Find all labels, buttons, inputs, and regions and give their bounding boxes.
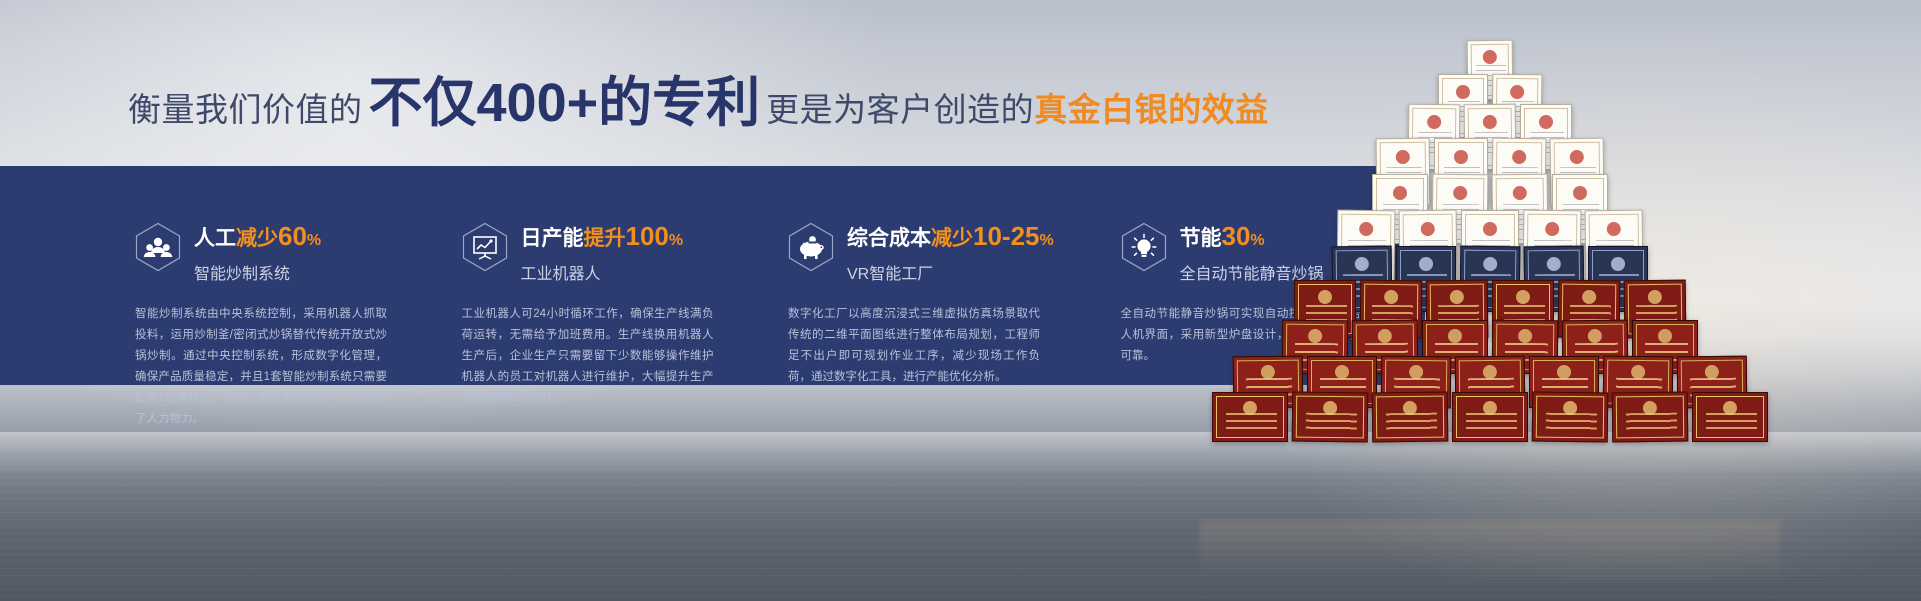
- feature-text: 综合成本减少10-25% VR智能工厂: [847, 220, 1054, 284]
- certificate-item: [1532, 392, 1609, 443]
- certificate-seal: [1450, 290, 1464, 304]
- feature-item-capacity-increase: 日产能提升100% 工业机器人 工业机器人可24小时循环工作，确保生产线满负荷运…: [452, 166, 767, 385]
- headline-prefix: 衡量我们价值的: [128, 83, 363, 131]
- certificate-seal: [1448, 329, 1462, 343]
- certificate-text-lines: [1546, 413, 1597, 433]
- feature-header: 综合成本减少10-25% VR智能工厂: [778, 220, 1093, 284]
- certificate-seal: [1510, 85, 1524, 99]
- feature-title-number: 30: [1222, 221, 1251, 251]
- feature-title-unit: %: [1040, 232, 1054, 249]
- feature-title-value: 提升: [584, 227, 626, 250]
- certificate-text-lines: [1226, 413, 1276, 432]
- certificate-text-lines: [1626, 413, 1677, 433]
- certificate-seal: [1396, 149, 1410, 163]
- certificate-seal: [1419, 257, 1433, 271]
- feature-title: 综合成本减少10-25%: [847, 222, 1054, 252]
- certificate-seal: [1512, 149, 1526, 163]
- certificate-seal: [1453, 186, 1467, 200]
- certificate-seal: [1513, 186, 1527, 200]
- feature-title-prefix: 节能: [1180, 227, 1222, 250]
- certificate-seal: [1427, 115, 1441, 129]
- headline-highlight: 真金白银的效益: [1034, 83, 1269, 131]
- certificate-seal: [1607, 222, 1621, 236]
- feature-title-number: 100: [626, 221, 669, 251]
- certificate-text-lines: [1706, 413, 1756, 432]
- feature-title-number: 10-25: [973, 221, 1040, 251]
- feature-subtitle: 工业机器人: [521, 260, 684, 284]
- certificate-seal: [1483, 222, 1497, 236]
- feature-title: 日产能提升100%: [521, 222, 684, 252]
- certificate-seal: [1611, 257, 1625, 271]
- feature-title-prefix: 人工: [194, 227, 236, 250]
- feature-description: 数字化工厂以高度沉浸式三维虚拟仿真场景取代传统的二维平面图纸进行整体布局规划，工…: [788, 304, 1040, 388]
- certificate-seal: [1648, 290, 1662, 304]
- certificate-seal: [1483, 50, 1497, 64]
- feature-title-value: 减少: [931, 227, 973, 250]
- piggy-bank-icon: [788, 222, 834, 272]
- feature-list: 人工减少60% 智能炒制系统 智能炒制系统由中央系统控制，采用机器人抓取投料，运…: [0, 166, 1425, 385]
- certificate-seal: [1483, 115, 1497, 129]
- feature-subtitle: 智能炒制系统: [194, 260, 321, 284]
- feature-item-labor-reduction: 人工减少60% 智能炒制系统 智能炒制系统由中央系统控制，采用机器人抓取投料，运…: [125, 166, 440, 385]
- certificate-seal: [1384, 290, 1398, 304]
- certificate-seal: [1378, 329, 1392, 343]
- feature-title-value: 减少: [236, 227, 278, 250]
- headline-emphasis: 不仅400+的专利: [363, 76, 767, 130]
- certificate-item: [1612, 392, 1689, 443]
- feature-header: 人工减少60% 智能炒制系统: [125, 220, 440, 284]
- certificate-seal: [1456, 85, 1470, 99]
- feature-title-number: 60: [278, 221, 307, 251]
- certificate-text-lines: [1466, 413, 1516, 432]
- certificate-item: [1292, 392, 1369, 443]
- certificate-seal: [1547, 257, 1561, 271]
- feature-title: 节能30%: [1180, 222, 1324, 252]
- feature-title-unit: %: [669, 232, 683, 249]
- certificate-item: [1452, 392, 1528, 442]
- certificate-item: [1692, 392, 1768, 442]
- lightbulb-icon: [1121, 222, 1167, 272]
- feature-title-prefix: 日产能: [521, 227, 584, 250]
- feature-title-unit: %: [307, 232, 321, 249]
- certificate-seal: [1318, 290, 1332, 304]
- feature-title-unit: %: [1250, 232, 1264, 249]
- certificate-seal: [1588, 329, 1602, 343]
- certificate-seal: [1359, 222, 1373, 236]
- feature-description: 工业机器人可24小时循环工作，确保生产线满负荷运转，无需给予加班费用。生产线换用…: [462, 304, 714, 409]
- certificate-seal: [1557, 365, 1571, 379]
- certificate-seal: [1573, 186, 1587, 200]
- certificate-seal: [1483, 257, 1497, 271]
- certificate-seal: [1421, 222, 1435, 236]
- certificate-seal: [1393, 186, 1407, 200]
- feature-text: 日产能提升100% 工业机器人: [521, 220, 684, 284]
- promo-banner: 衡量我们价值的 不仅400+的专利 更是为客户创造的 真金白银的效益: [0, 0, 1921, 601]
- feature-description: 智能炒制系统由中央系统控制，采用机器人抓取投料，运用炒制釜/密闭式炒锅替代传统开…: [135, 304, 387, 430]
- certificate-item: [1372, 392, 1449, 443]
- certificate-seal: [1308, 329, 1322, 343]
- certificate-reflection: [1200, 520, 1780, 601]
- certificate-seal: [1518, 329, 1532, 343]
- certificate-text-lines: [1306, 413, 1357, 433]
- certificate-seal: [1582, 290, 1596, 304]
- certificate-seal: [1545, 222, 1559, 236]
- certificate-seal: [1454, 150, 1468, 164]
- certificate-seal: [1539, 115, 1553, 129]
- page-title: 衡量我们价值的 不仅400+的专利 更是为客户创造的 真金白银的效益: [128, 76, 1269, 132]
- feature-header: 日产能提升100% 工业机器人: [452, 220, 767, 284]
- certificate-seal: [1658, 329, 1672, 343]
- feature-title: 人工减少60%: [194, 222, 321, 252]
- certificate-seal: [1516, 290, 1530, 304]
- feature-title-prefix: 综合成本: [847, 227, 931, 250]
- certificate-seal: [1335, 365, 1349, 379]
- feature-text: 节能30% 全自动节能静音炒锅: [1180, 220, 1324, 284]
- certificate-seal: [1355, 257, 1369, 271]
- certificate-item: [1212, 392, 1288, 442]
- feature-subtitle: VR智能工厂: [847, 260, 1054, 284]
- headline-middle: 更是为客户创造的: [766, 83, 1034, 131]
- certificate-text-lines: [1386, 413, 1437, 433]
- chart-board-icon: [462, 222, 508, 272]
- certificate-seal: [1570, 149, 1584, 163]
- feature-text: 人工减少60% 智能炒制系统: [194, 220, 321, 284]
- feature-item-cost-reduction: 综合成本减少10-25% VR智能工厂 数字化工厂以高度沉浸式三维虚拟仿真场景取…: [778, 166, 1093, 385]
- people-group-icon: [135, 222, 181, 272]
